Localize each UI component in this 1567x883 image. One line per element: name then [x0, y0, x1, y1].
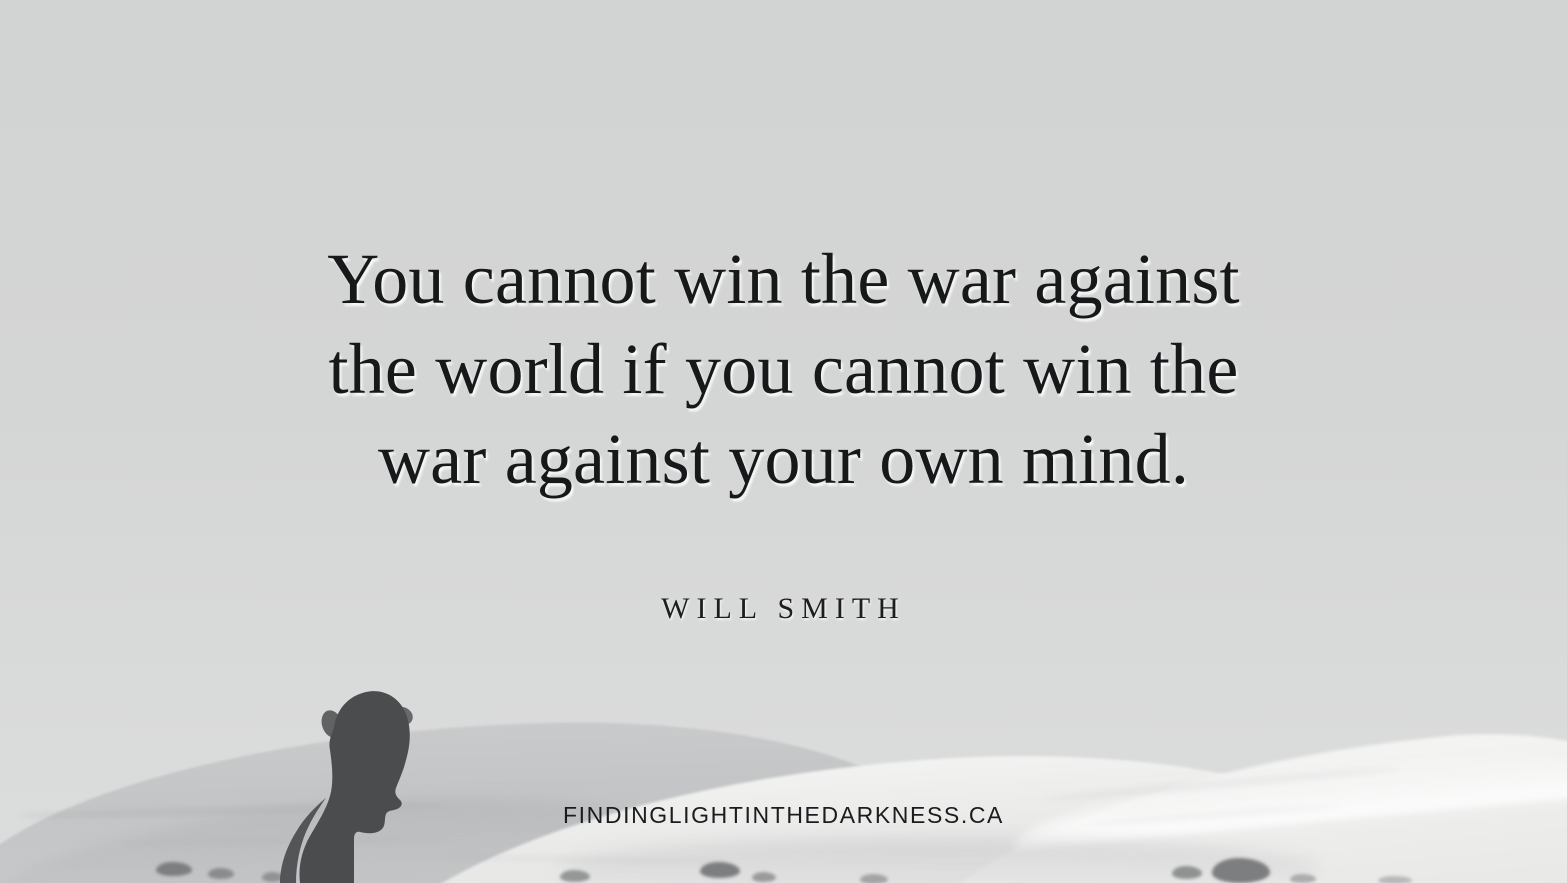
quote-line-3: war against your own mind.	[0, 414, 1567, 504]
text-overlay: You cannot win the war against the world…	[0, 0, 1567, 883]
quote-author: WILL SMITH	[0, 592, 1567, 626]
website-watermark: FINDINGLIGHTINTHEDARKNESS.CA	[0, 802, 1567, 829]
quote-line-1: You cannot win the war against	[0, 234, 1567, 324]
quote-text: You cannot win the war against the world…	[0, 234, 1567, 504]
quote-image-card: You cannot win the war against the world…	[0, 0, 1567, 883]
quote-line-2: the world if you cannot win the	[0, 324, 1567, 414]
